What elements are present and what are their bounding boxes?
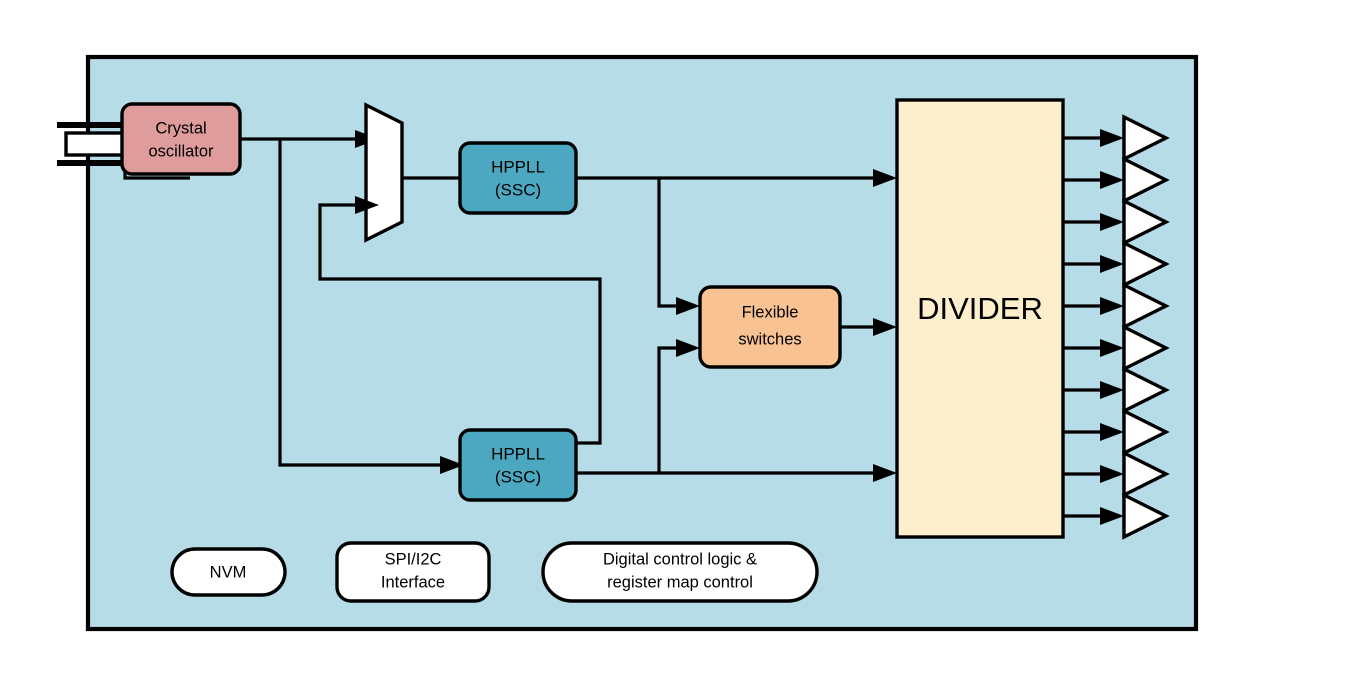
hppll-bottom-block[interactable] <box>460 430 576 500</box>
crystal-oscillator-block[interactable] <box>122 104 240 174</box>
crystal-oscillator-label-line1: Crystal <box>155 119 206 137</box>
hppll-top-block[interactable] <box>460 143 576 213</box>
flexible-switches-block[interactable] <box>700 287 840 367</box>
crystal-oscillator-label-line2: oscillator <box>148 142 214 160</box>
spi-i2c-label-line2: Interface <box>381 573 445 591</box>
spi-i2c-label-line1: SPI/I2C <box>385 550 442 568</box>
hppll-top-label-line1: HPPLL <box>491 157 545 176</box>
diagram-canvas: Crystal oscillator HPPLL (SSC) HPPLL (SS… <box>0 0 1355 685</box>
hppll-bottom-label-line1: HPPLL <box>491 444 545 463</box>
divider-label: DIVIDER <box>917 291 1043 326</box>
hppll-top-label-line2: (SSC) <box>495 180 541 199</box>
block-diagram: Crystal oscillator HPPLL (SSC) HPPLL (SS… <box>0 0 1355 685</box>
flexible-switches-label-line2: switches <box>738 330 801 348</box>
mux-block[interactable] <box>366 105 402 240</box>
nvm-label: NVM <box>210 563 247 581</box>
hppll-bottom-label-line2: (SSC) <box>495 467 541 486</box>
digital-control-label-line1: Digital control logic & <box>603 550 757 568</box>
digital-control-label-line2: register map control <box>607 573 753 591</box>
flexible-switches-label-line1: Flexible <box>742 303 799 321</box>
